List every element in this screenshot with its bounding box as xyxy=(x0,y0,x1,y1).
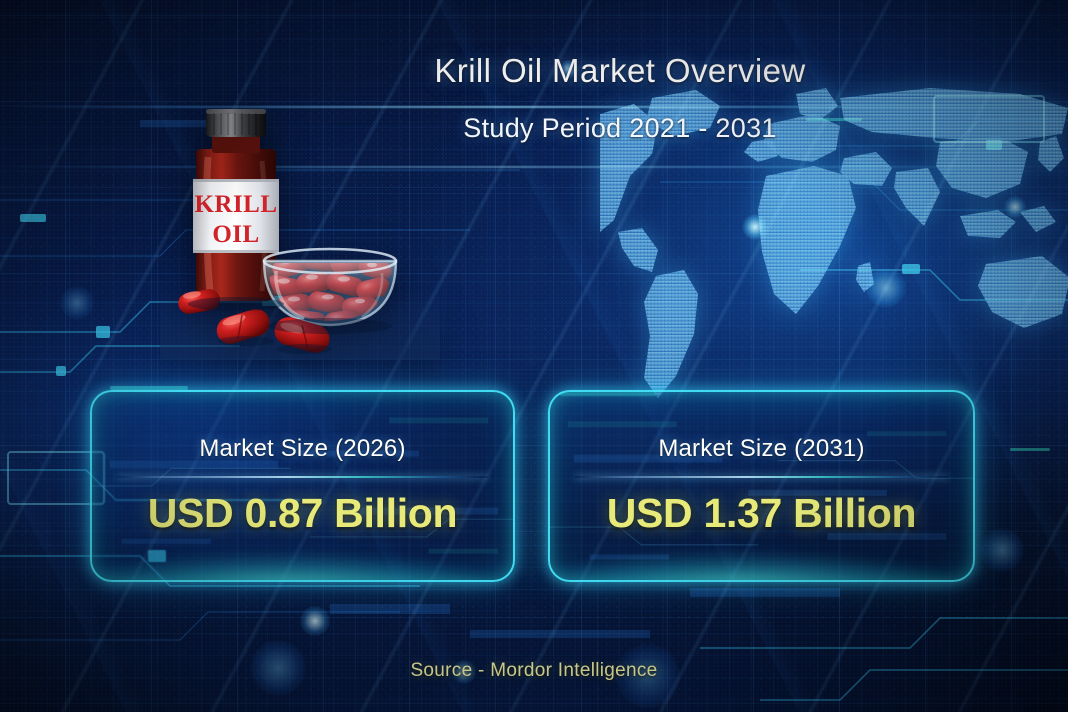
card-divider xyxy=(117,476,487,478)
page-title: Krill Oil Market Overview xyxy=(0,52,1068,90)
krill-oil-product-image: KRILL OIL xyxy=(160,95,440,360)
svg-text:KRILL: KRILL xyxy=(194,191,277,218)
stat-card-market-size-2026[interactable]: Market Size (2026) USD 0.87 Billion xyxy=(90,390,515,582)
svg-text:OIL: OIL xyxy=(212,221,259,248)
source-attribution: Source - Mordor Intelligence xyxy=(0,660,1068,682)
card-label: Market Size (2026) xyxy=(199,435,405,463)
card-label: Market Size (2031) xyxy=(658,435,864,463)
card-divider xyxy=(575,476,947,478)
infographic-canvas: Krill Oil Market Overview Study Period 2… xyxy=(0,0,1068,712)
card-value: USD 0.87 Billion xyxy=(148,490,458,537)
card-value: USD 1.37 Billion xyxy=(607,490,917,537)
stat-card-market-size-2031[interactable]: Market Size (2031) USD 1.37 Billion xyxy=(548,390,975,582)
